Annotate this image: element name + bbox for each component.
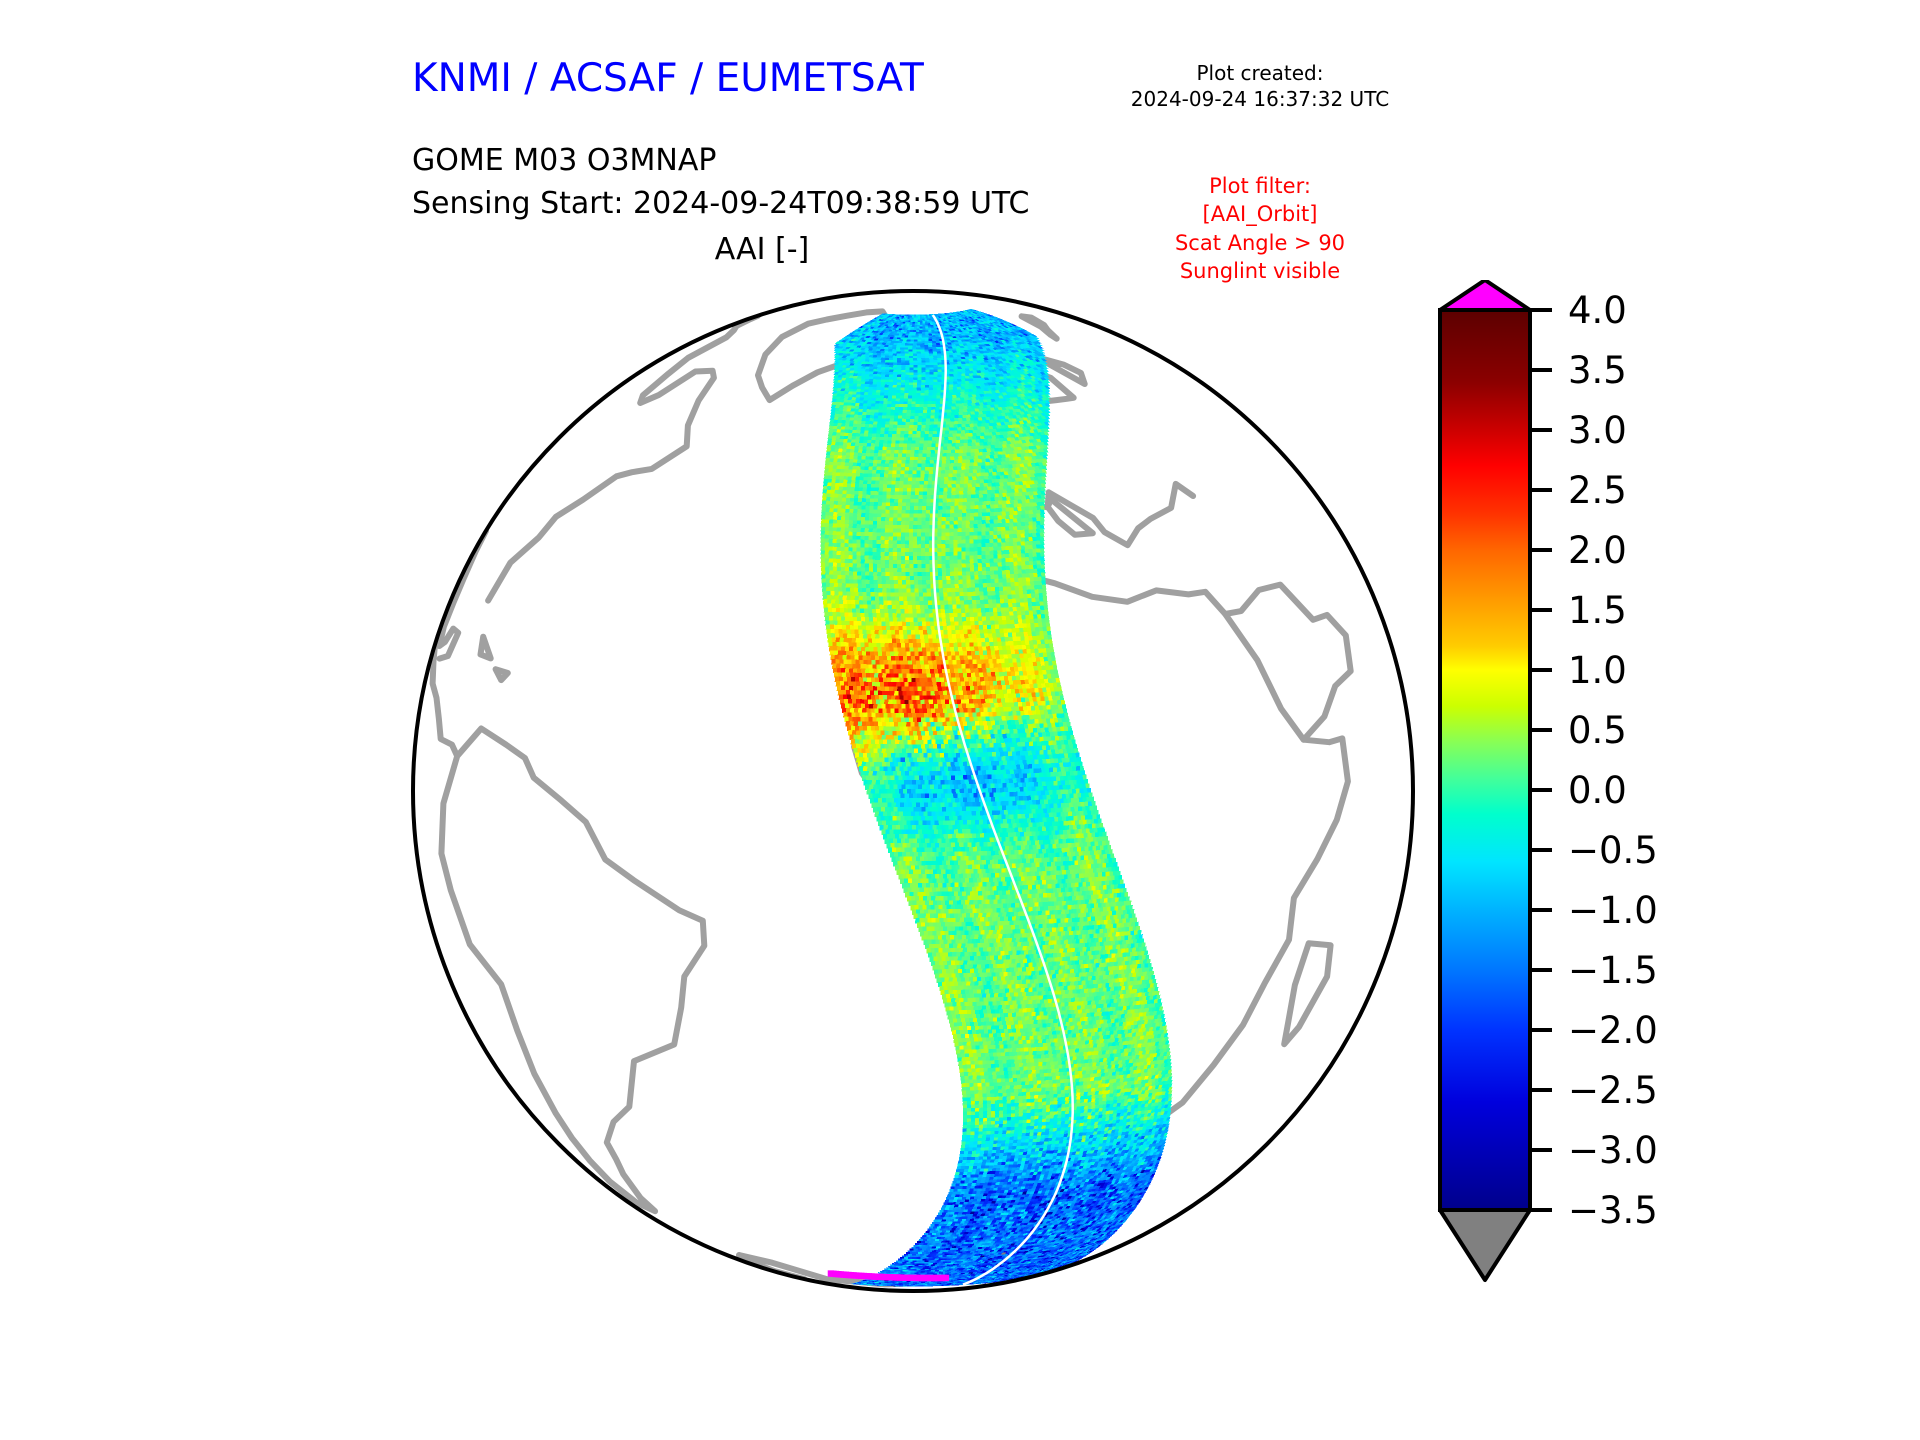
product-name: GOME M03 O3MNAP: [412, 140, 1029, 183]
product-info-block: GOME M03 O3MNAP Sensing Start: 2024-09-2…: [412, 140, 1029, 225]
plot-created-timestamp: 2024-09-24 16:37:32 UTC: [1050, 86, 1470, 112]
plot-filter-line-2: Scat Angle > 90: [1050, 229, 1470, 257]
plot-created-block: Plot created: 2024-09-24 16:37:32 UTC: [1050, 60, 1470, 113]
plot-canvas: KNMI / ACSAF / EUMETSAT Plot created: 20…: [0, 0, 1920, 1440]
plot-filter-block: Plot filter: [AAI_Orbit] Scat Angle > 90…: [1050, 172, 1470, 285]
globe-map: [410, 288, 1416, 1294]
plot-filter-line-0: Plot filter:: [1050, 172, 1470, 200]
sensing-start: Sensing Start: 2024-09-24T09:38:59 UTC: [412, 183, 1029, 226]
quantity-title: AAI [-]: [412, 232, 1112, 267]
plot-filter-line-1: [AAI_Orbit]: [1050, 200, 1470, 228]
coastline-path: [496, 669, 508, 680]
plot-created-label: Plot created:: [1050, 60, 1470, 86]
globe-map-svg: [410, 288, 1416, 1294]
organisation-banner: KNMI / ACSAF / EUMETSAT: [412, 56, 924, 101]
plot-filter-line-3: Sunglint visible: [1050, 257, 1470, 285]
